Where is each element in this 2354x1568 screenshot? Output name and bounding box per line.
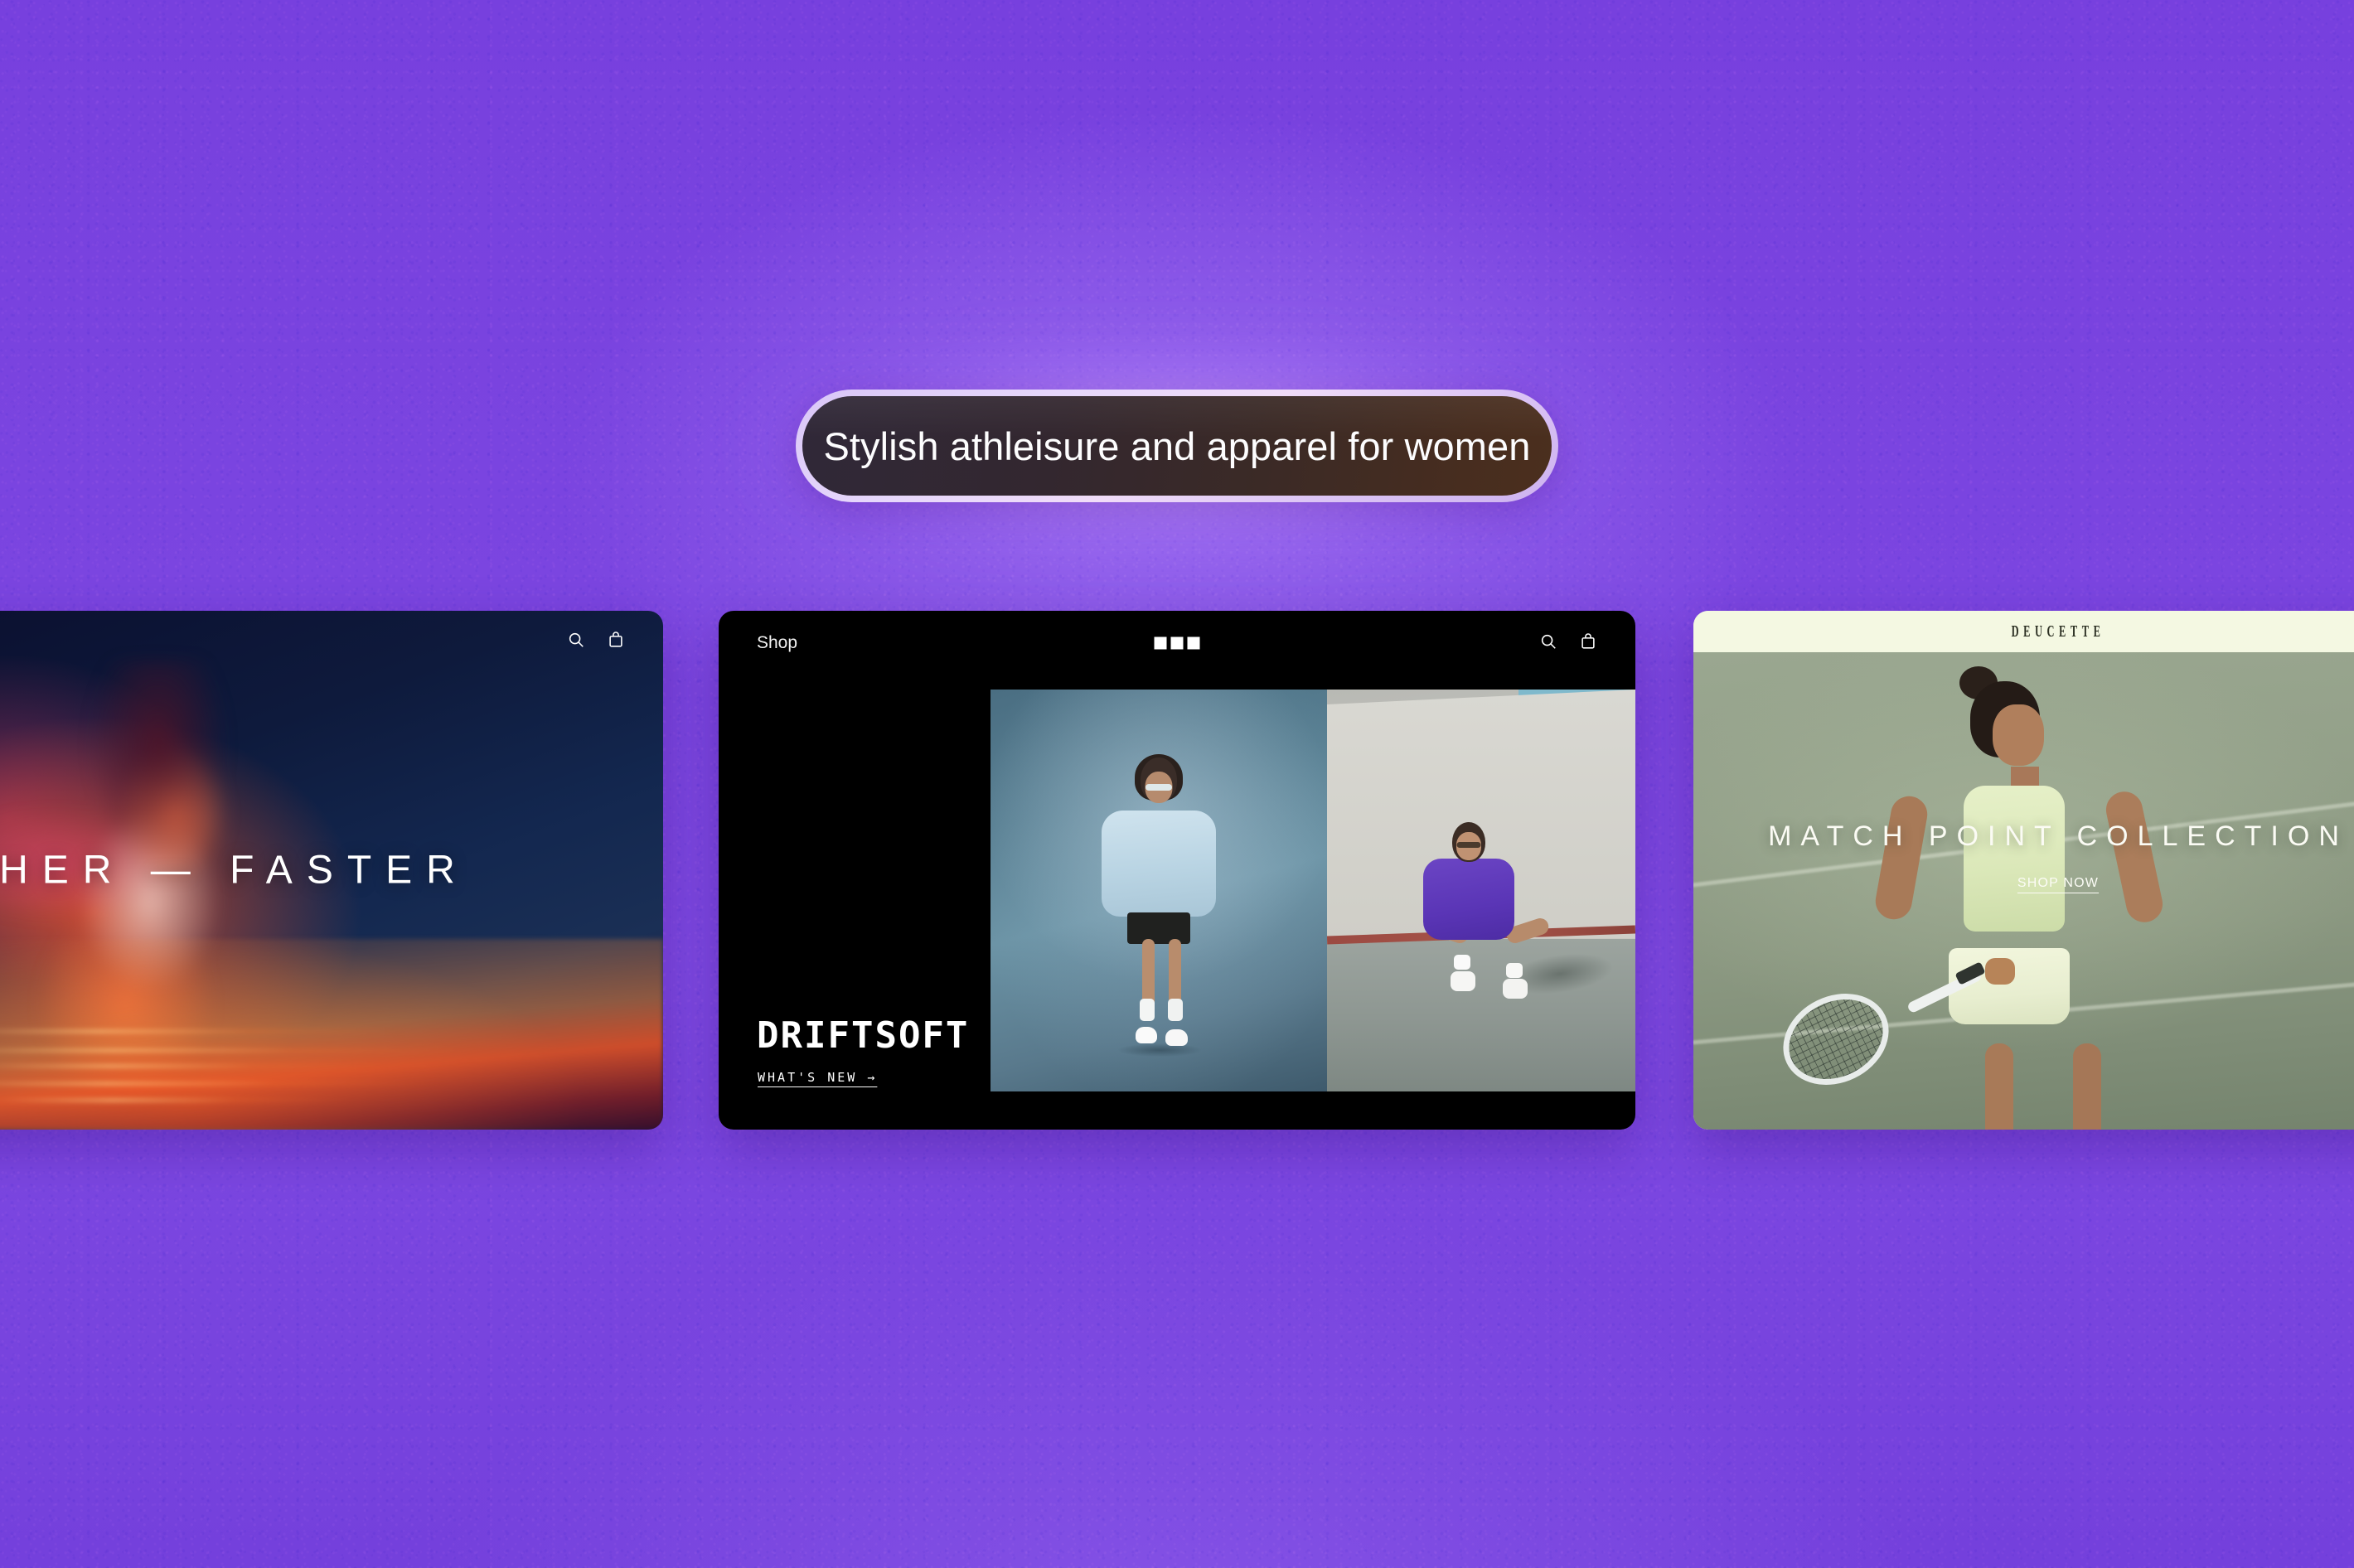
purple-sweatshirt	[1423, 859, 1514, 940]
player-face	[1993, 704, 2044, 766]
search-pill-container: Stylish athleisure and apparel for women	[796, 390, 1558, 502]
sunglasses	[1457, 842, 1481, 848]
shop-now-link[interactable]: SHOP NOW	[1693, 876, 2354, 891]
light-blue-sweatshirt	[1102, 811, 1216, 917]
streak	[0, 1049, 473, 1052]
white-sneaker	[1165, 1029, 1188, 1046]
topbar-icons	[567, 631, 625, 653]
card-topbar	[0, 611, 663, 672]
card-header-bar: DEUCETTE	[1693, 611, 2354, 652]
white-sock	[1454, 955, 1470, 970]
streak	[0, 1099, 356, 1101]
product-photo-street[interactable]	[1327, 690, 1635, 1091]
card-navbar: Shop	[719, 611, 1635, 675]
search-input[interactable]: Stylish athleisure and apparel for women	[823, 423, 1530, 469]
player-hand	[1985, 958, 2015, 985]
tennis-court-photo	[1693, 652, 2354, 1130]
tennis-racket-head	[1767, 976, 1903, 1101]
product-photo-studio[interactable]	[991, 690, 1327, 1091]
player-arm	[2103, 788, 2166, 926]
search-icon[interactable]	[1539, 632, 1557, 655]
site-card-further-faster[interactable]: RTHER — FASTER	[0, 611, 663, 1130]
search-icon[interactable]	[567, 631, 585, 653]
card-carousel[interactable]: RTHER — FASTER Shop	[0, 611, 2354, 1130]
product-photo-grid	[991, 690, 1635, 1091]
black-skirt	[1127, 912, 1190, 944]
card-headline: RTHER — FASTER	[0, 848, 469, 893]
navbar-icons	[1539, 632, 1597, 655]
streak	[0, 1065, 393, 1067]
player-leg	[2073, 1043, 2101, 1130]
sunglasses	[1146, 784, 1172, 791]
tennis-tank-top	[1964, 786, 2065, 932]
streak	[0, 1082, 437, 1085]
brand-logo[interactable]: DEUCETTE	[2012, 622, 2105, 641]
brand-wordmark: DRIFTSOFT	[757, 1014, 969, 1057]
site-card-driftsoft[interactable]: Shop	[719, 611, 1635, 1130]
white-sock	[1168, 999, 1183, 1021]
shopping-bag-icon[interactable]	[1579, 632, 1597, 655]
search-pill-inner[interactable]: Stylish athleisure and apparel for women	[802, 396, 1552, 496]
whats-new-link[interactable]: WHAT'S NEW →	[758, 1070, 877, 1085]
streak	[0, 1030, 400, 1033]
white-sneaker	[1451, 971, 1475, 991]
three-squares-logo-icon[interactable]	[1155, 637, 1200, 650]
shopping-bag-icon[interactable]	[607, 631, 625, 653]
player-leg	[1985, 1043, 2013, 1130]
logo-square	[1188, 637, 1200, 650]
white-sneaker	[1503, 979, 1528, 999]
nav-item-shop[interactable]: Shop	[757, 633, 797, 653]
shop-now-label: SHOP NOW	[2017, 876, 2099, 890]
search-pill[interactable]: Stylish athleisure and apparel for women	[796, 390, 1558, 502]
card-headline: MATCH POINT COLLECTION	[1693, 820, 2354, 853]
floor-shadow	[1118, 1043, 1201, 1057]
logo-square	[1171, 637, 1184, 650]
light-streaks	[0, 939, 663, 1130]
site-card-deucette[interactable]: DEUCETTE MATCH POINT COLLECTION SHOP NOW	[1693, 611, 2354, 1130]
logo-square	[1155, 637, 1167, 650]
white-sock	[1506, 963, 1523, 978]
white-sneaker	[1136, 1027, 1157, 1043]
white-sock	[1140, 999, 1155, 1021]
